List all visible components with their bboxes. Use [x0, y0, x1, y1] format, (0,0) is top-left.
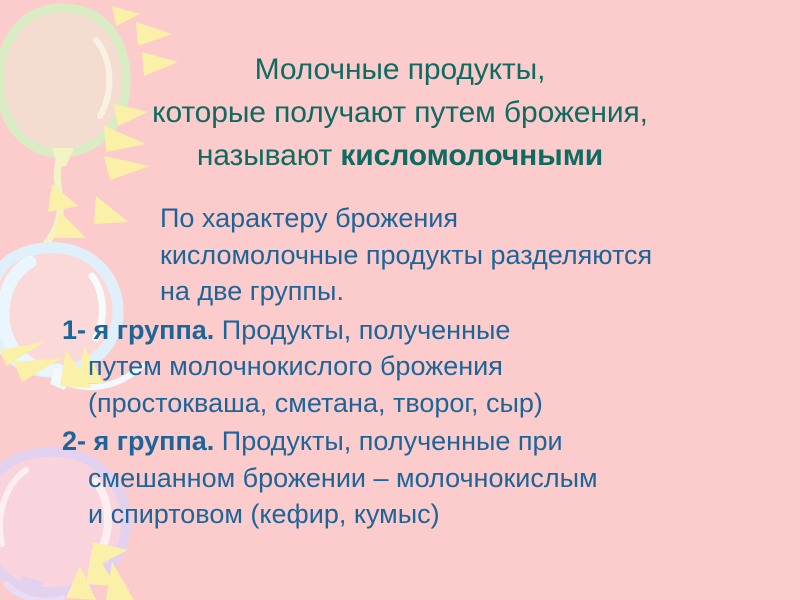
group-2-line-2: смешанном брожении – молочнокислым: [62, 460, 763, 497]
intro-line-3: на две группы.: [88, 273, 763, 310]
paragraph-group-2: 2- я группа. Продукты, полученные при см…: [48, 423, 763, 533]
title-keyword-kislomolochnymi: кисломолочными: [340, 139, 603, 172]
paragraph-intro: По характеру брожения кисломолочные прод…: [48, 200, 763, 310]
title-line-3-regular: называют: [197, 139, 341, 172]
slide-title: Молочные продукты, которые получают путе…: [0, 48, 800, 177]
group-2-line-3: и спиртовом (кефир, кумыс): [62, 496, 763, 533]
slide-content: Молочные продукты, которые получают путе…: [0, 0, 800, 600]
title-line-3: называют кисломолочными: [0, 134, 800, 177]
intro-line-2: кисломолочные продукты разделяются: [88, 237, 763, 274]
group-2-first-line: 2- я группа. Продукты, полученные при: [62, 423, 763, 460]
intro-line-1: По характеру брожения: [88, 200, 763, 237]
title-line-2: которые получают путем брожения,: [0, 91, 800, 134]
group-1-line-3: (простокваша, сметана, творог, сыр): [62, 385, 763, 422]
presentation-slide: Молочные продукты, которые получают путе…: [0, 0, 800, 600]
paragraph-group-1: 1- я группа. Продукты, полученные путем …: [48, 312, 763, 422]
group-1-line-2: путем молочнокислого брожения: [62, 348, 763, 385]
title-line-1: Молочные продукты,: [0, 48, 800, 91]
slide-body: По характеру брожения кисломолочные прод…: [48, 200, 763, 533]
group-1-line-1: Продукты, полученные: [214, 315, 510, 345]
group-2-line-1: Продукты, полученные при: [214, 426, 562, 456]
group-1-first-line: 1- я группа. Продукты, полученные: [62, 312, 763, 349]
group-2-label: 2- я группа.: [62, 426, 214, 456]
group-1-label: 1- я группа.: [62, 315, 214, 345]
